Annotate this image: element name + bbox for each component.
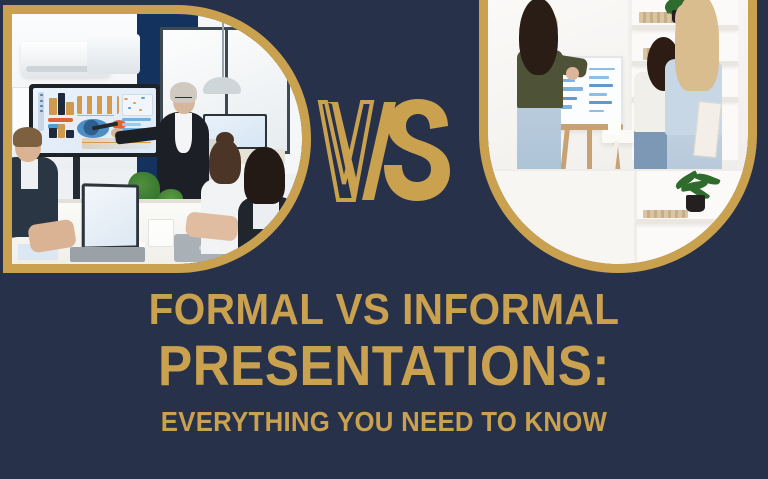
lower-bookshelf: [634, 171, 748, 264]
attendee-left-shirt: [21, 159, 38, 189]
poster-canvas: FORMAL VS INFORMAL PRESENTATIONS: EVERYT…: [0, 0, 768, 479]
presenter-shirt: [175, 113, 192, 153]
informal-presentation-photo: [488, 0, 748, 264]
presentation-screen-content: [33, 88, 156, 153]
presenter-glasses-icon: [175, 97, 192, 105]
desk-vase: [148, 219, 174, 247]
informal-presentation-illustration: [488, 0, 748, 264]
formal-presentation-photo: [12, 14, 302, 264]
informal-presentation-frame: [479, 0, 757, 273]
formal-presentation-illustration: [12, 14, 302, 264]
formal-presentation-frame: [3, 5, 311, 273]
laptop-base: [70, 247, 145, 262]
title-line-2: PRESENTATIONS:: [38, 336, 729, 396]
title-block: FORMAL VS INFORMAL PRESENTATIONS: EVERYT…: [0, 286, 768, 438]
versus-badge: [316, 86, 476, 216]
pendant-lamp-cord: [222, 14, 224, 79]
laptop-open: [81, 183, 138, 250]
attendee-left-hair: [13, 127, 42, 147]
attendee-far-right-hair: [244, 147, 285, 205]
coffee-cup: [608, 116, 621, 135]
title-subtitle: EVERYTHING YOU NEED TO KNOW: [31, 406, 738, 438]
attendee-right-arm: [185, 211, 240, 241]
standing-woman-hair: [675, 0, 719, 91]
attendee-right-bun: [216, 132, 233, 147]
presenter-casual-hair: [519, 0, 558, 75]
presentation-screen: [29, 84, 160, 157]
versus-graphic: [316, 86, 476, 216]
air-conditioner-secondary: [87, 34, 139, 74]
title-line-1: FORMAL VS INFORMAL: [31, 286, 738, 334]
